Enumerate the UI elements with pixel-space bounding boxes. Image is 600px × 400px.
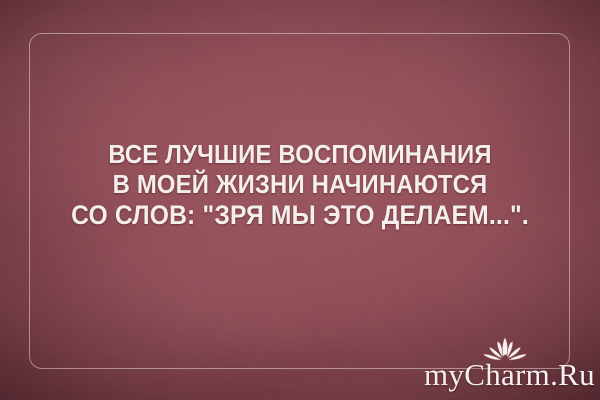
quote-line-1: ВСЕ ЛУЧШИЕ ВОСПОМИНАНИЯ	[20, 140, 581, 170]
watermark-text: myCharm.Ru	[424, 358, 596, 392]
quote-text-block: ВСЕ ЛУЧШИЕ ВОСПОМИНАНИЯ В МОЕЙ ЖИЗНИ НАЧ…	[0, 140, 600, 230]
quote-line-2: В МОЕЙ ЖИЗНИ НАЧИНАЮТСЯ	[20, 170, 581, 200]
watermark: myCharm.Ru	[424, 334, 596, 396]
quote-line-3: СО СЛОВ: "ЗРЯ МЫ ЭТО ДЕЛАЕМ...".	[21, 200, 579, 230]
quote-card: ВСЕ ЛУЧШИЕ ВОСПОМИНАНИЯ В МОЕЙ ЖИЗНИ НАЧ…	[0, 0, 600, 400]
